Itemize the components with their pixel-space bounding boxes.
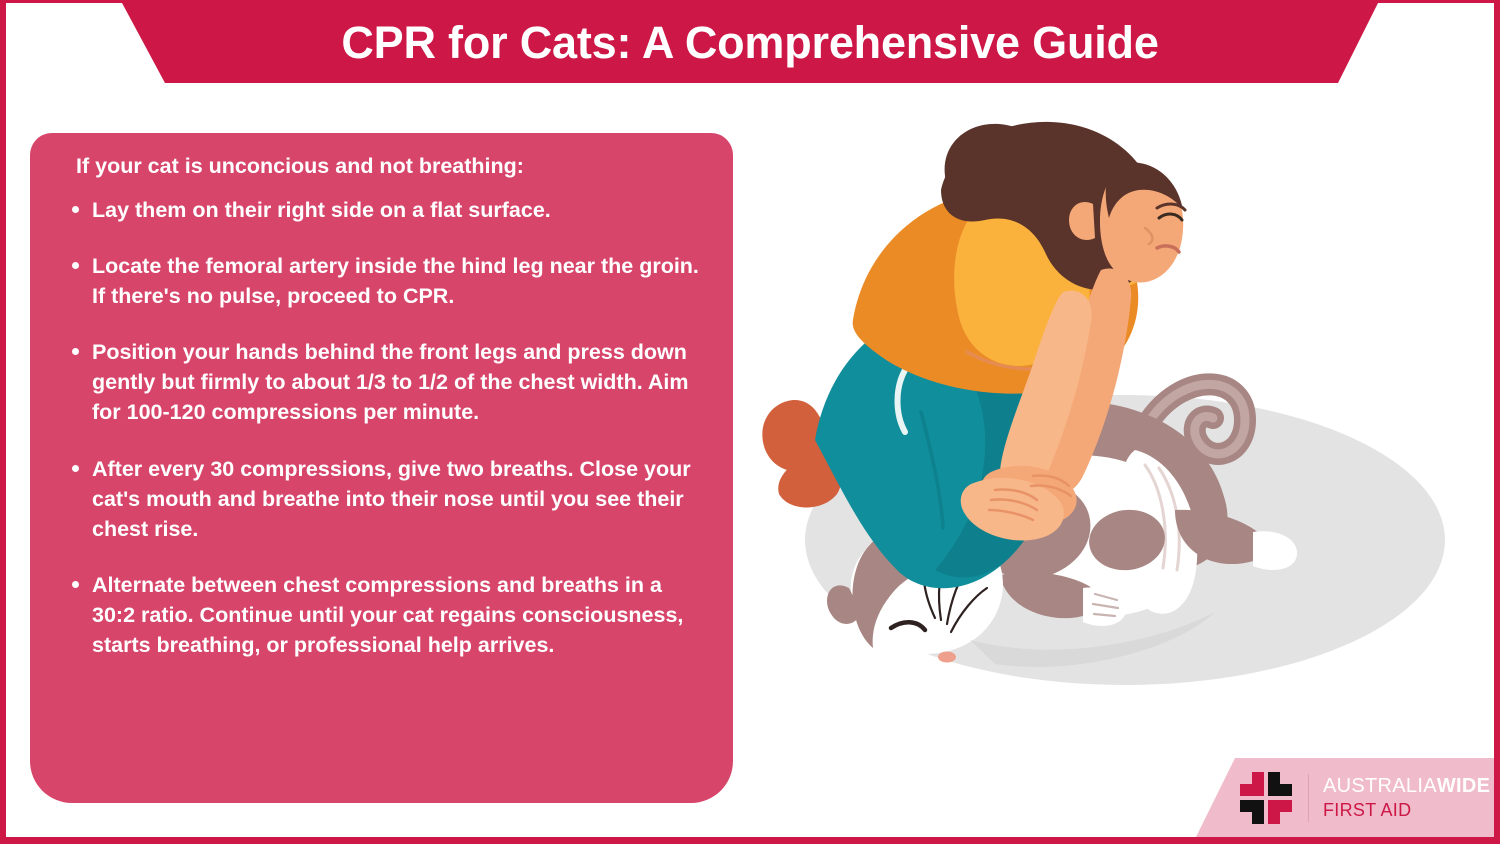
logo-wide-text: WIDE xyxy=(1437,775,1490,797)
infographic-page: CPR for Cats: A Comprehensive Guide If y… xyxy=(0,0,1500,844)
list-item: After every 30 compressions, give two br… xyxy=(48,454,707,544)
frame-bar-bottom xyxy=(0,837,1500,844)
logo-text: AUSTRALIAWIDE FIRST AID xyxy=(1323,775,1490,821)
bullet-dot-icon xyxy=(72,206,79,213)
cross-quadrant-top-left xyxy=(1240,772,1264,796)
frame-bar-right xyxy=(1494,0,1500,844)
cross-quadrant-bottom-left xyxy=(1240,800,1264,824)
list-item-text: Position your hands behind the front leg… xyxy=(92,340,688,424)
instruction-card: If your cat is unconcious and not breath… xyxy=(30,133,733,803)
list-item-text: After every 30 compressions, give two br… xyxy=(92,457,691,541)
first-aid-cross-icon xyxy=(1240,772,1292,824)
list-item-text: Locate the femoral artery inside the hin… xyxy=(92,254,699,308)
person-hair-bun xyxy=(945,124,1044,215)
bullet-dot-icon xyxy=(72,465,79,472)
cat-nose xyxy=(938,652,956,663)
cross-quadrant-top-right xyxy=(1268,772,1292,796)
cross-quadrant-bottom-right xyxy=(1268,800,1292,824)
frame-bar-top xyxy=(0,0,1500,3)
list-item-text: Alternate between chest compressions and… xyxy=(92,573,683,657)
logo-australia-text: AUSTRALIA xyxy=(1323,775,1437,797)
card-intro-text: If your cat is unconcious and not breath… xyxy=(76,153,707,181)
bullet-dot-icon xyxy=(72,348,79,355)
instruction-bullet-list: Lay them on their right side on a flat s… xyxy=(48,195,707,660)
list-item: Position your hands behind the front leg… xyxy=(48,337,707,427)
list-item: Locate the femoral artery inside the hin… xyxy=(48,251,707,311)
list-item-text: Lay them on their right side on a flat s… xyxy=(92,198,551,222)
logo-divider xyxy=(1308,774,1309,822)
logo-first-aid-text: FIRST AID xyxy=(1323,800,1490,821)
bullet-dot-icon xyxy=(72,581,79,588)
list-item: Lay them on their right side on a flat s… xyxy=(48,195,707,225)
page-title: CPR for Cats: A Comprehensive Guide xyxy=(0,3,1500,83)
frame-bar-left xyxy=(0,0,6,844)
list-item: Alternate between chest compressions and… xyxy=(48,570,707,660)
bullet-dot-icon xyxy=(72,262,79,269)
logo-banner: AUSTRALIAWIDE FIRST AID xyxy=(1196,758,1494,837)
logo-line-1: AUSTRALIAWIDE xyxy=(1323,775,1490,798)
cpr-illustration xyxy=(745,120,1445,730)
logo: AUSTRALIAWIDE FIRST AID xyxy=(1240,770,1490,825)
